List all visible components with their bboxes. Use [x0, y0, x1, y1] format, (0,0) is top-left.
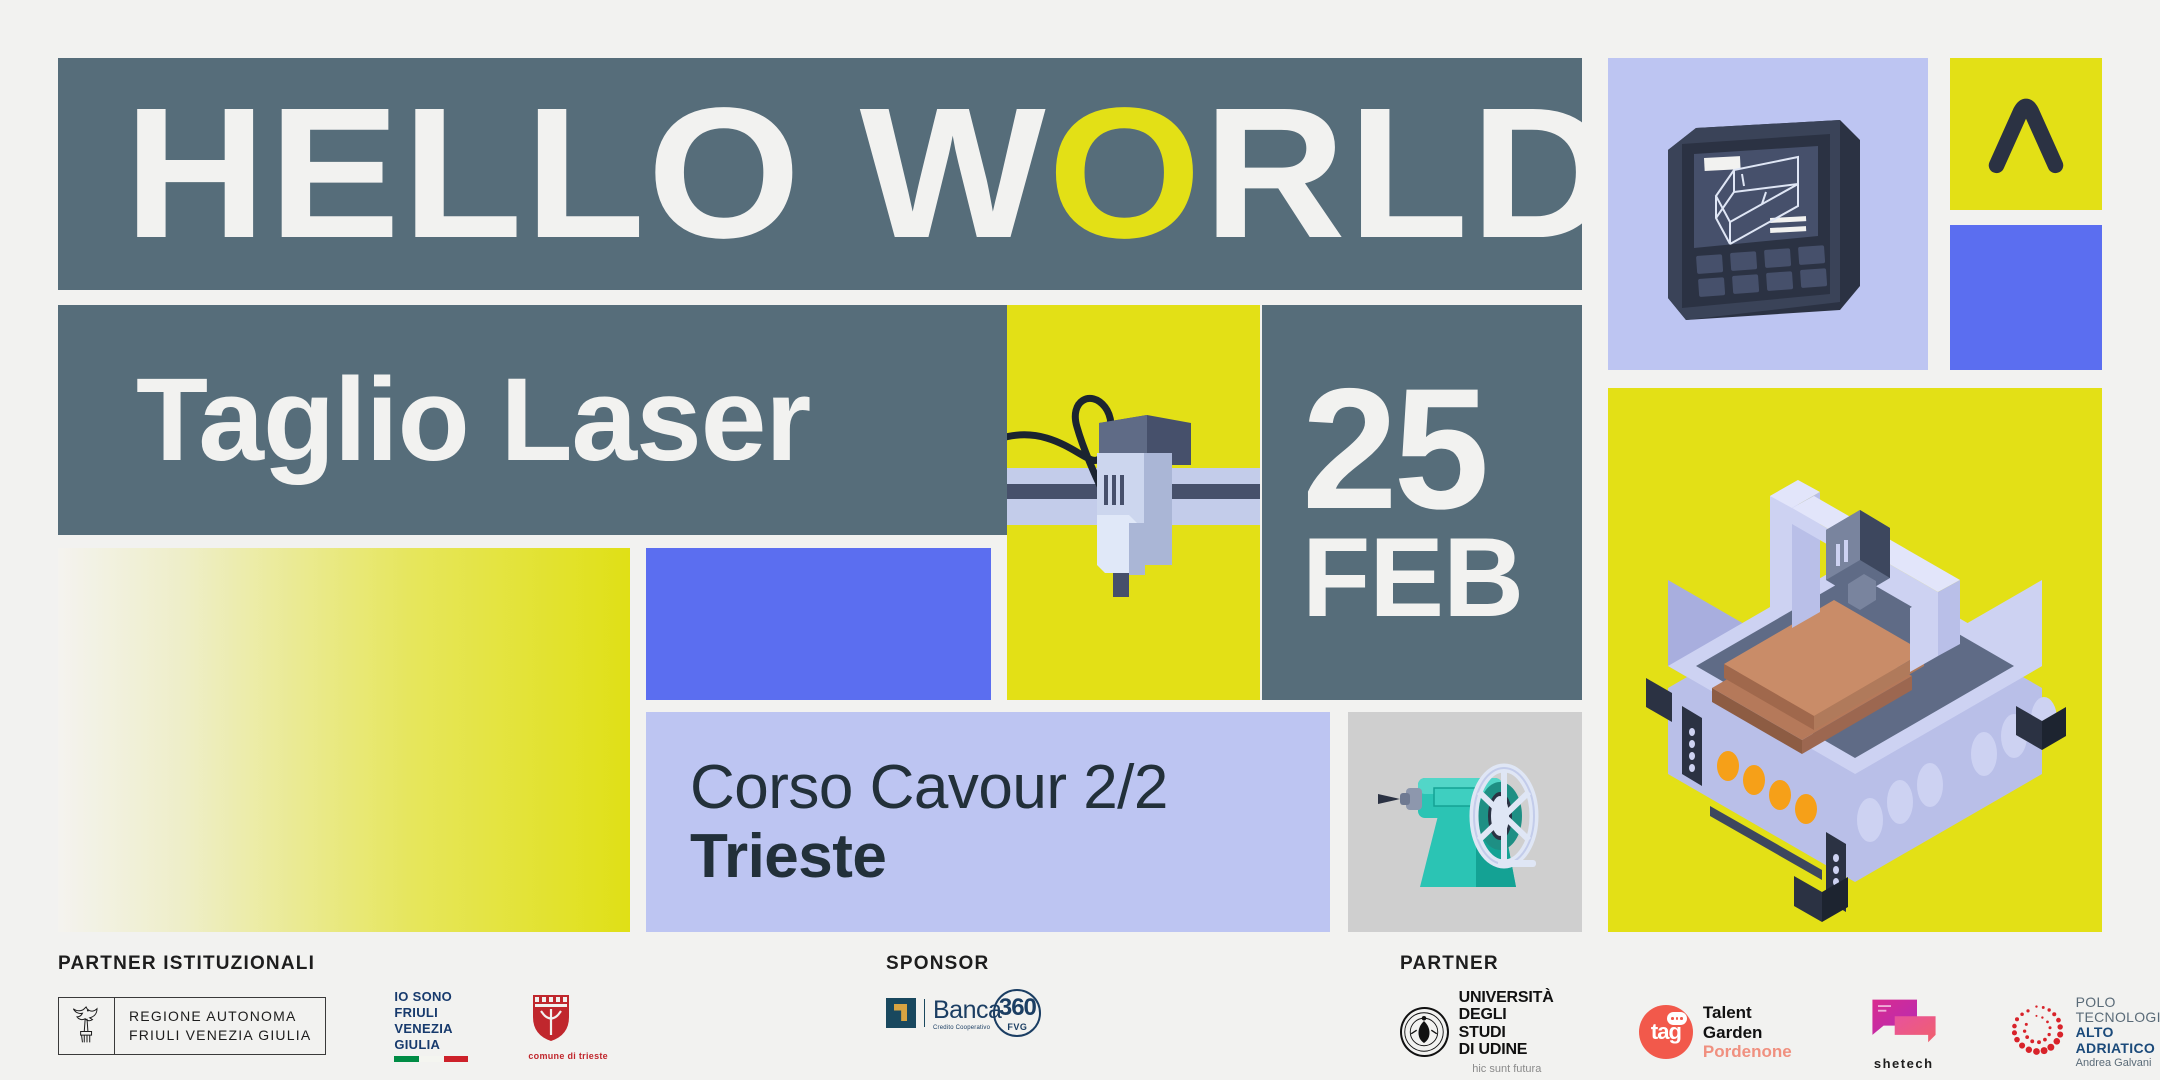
workshop-title: Taglio Laser — [136, 352, 810, 488]
iosono-line-2: FRIULI — [394, 1005, 468, 1021]
laser-cutting-head-icon — [1007, 305, 1260, 700]
iosono-line-3: VENEZIA — [394, 1021, 468, 1037]
title-part-suffix: RLD — [1203, 70, 1615, 277]
event-day: 25 — [1302, 374, 1582, 525]
tag-line-2: Garden — [1703, 1023, 1792, 1042]
tag-mark-icon: tag — [1639, 1005, 1693, 1059]
title-banner: HELLO WORLD — [58, 58, 1582, 290]
footer-logo-row-sponsor: Banca Credito Cooperativo 360 FVG — [886, 989, 1041, 1037]
tag-line-1: Talent — [1703, 1003, 1792, 1022]
polo-line-2: TECNOLOGICO — [2076, 1010, 2160, 1025]
logo-universita-udine[interactable]: UNIVERSITÀ DEGLI STUDI DI UDINE hic sunt… — [1400, 989, 1555, 1075]
banca-360-number: 360 — [999, 994, 1036, 1022]
brand-logo-panel — [1950, 58, 2102, 210]
footer-group-partner: PARTNER UNIVERSITÀ DEGLI — [1400, 953, 2160, 1075]
polo-line-3: ALTO ADRIATICO — [2076, 1025, 2160, 1056]
regione-line-1: REGIONE AUTONOMA — [129, 1007, 311, 1026]
event-poster: HELLO WORLD Taglio Laser — [0, 0, 2160, 1080]
tag-line-3: Pordenone — [1703, 1042, 1792, 1061]
banca-name: Banca — [933, 996, 1001, 1025]
polo-wordmark: POLO TECNOLOGICO ALTO ADRIATICO Andrea G… — [2076, 995, 2160, 1070]
shetech-name: shetech — [1866, 1056, 1942, 1071]
cnc-machine-illustration-panel — [1608, 388, 2102, 932]
logo-regione-autonoma-fvg[interactable]: REGIONE AUTONOMA FRIULI VENEZIA GIULIA — [58, 997, 326, 1055]
footer-group-institutional: PARTNER ISTITUZIONALI REGIONE AUTONOMA F — [58, 953, 608, 1062]
uniud-motto: hic sunt futura — [1459, 1063, 1555, 1075]
banca-360-circle: 360 FVG — [993, 989, 1041, 1037]
footer: PARTNER ISTITUZIONALI REGIONE AUTONOMA F — [0, 945, 2160, 1080]
tag-wordmark: Talent Garden Pordenone — [1703, 1003, 1792, 1060]
footer-heading-partner: PARTNER — [1400, 953, 2160, 975]
page-title: HELLO WORLD — [124, 81, 1615, 267]
iosono-line-4: GIULIA — [394, 1037, 468, 1053]
gradient-decoration-block — [58, 548, 630, 932]
event-date-panel: 25 FEB — [1262, 305, 1582, 700]
event-location-panel: Corso Cavour 2/2 Trieste — [646, 712, 1330, 932]
uniud-line-3: DI UDINE — [1459, 1041, 1555, 1058]
university-seal-icon — [1400, 1007, 1449, 1057]
uniud-wordmark: UNIVERSITÀ DEGLI STUDI DI UDINE hic sunt… — [1459, 989, 1555, 1075]
event-city: Trieste — [690, 822, 1330, 891]
speech-bubble-icon — [1667, 1012, 1687, 1025]
subtitle-bar: Taglio Laser — [58, 305, 1008, 535]
logo-talent-garden[interactable]: tag Talent Garden Pordenone — [1639, 1003, 1792, 1060]
polo-line-4: Andrea Galvani — [2076, 1057, 2160, 1069]
banca-divider — [924, 999, 925, 1027]
event-month: FEB — [1302, 525, 1582, 631]
laser-head-illustration-panel — [1007, 305, 1260, 700]
speech-bubbles-icon — [1866, 994, 1942, 1046]
logo-regione-text: REGIONE AUTONOMA FRIULI VENEZIA GIULIA — [115, 1007, 325, 1045]
trieste-label: comune di trieste — [528, 1051, 608, 1061]
blue-decoration-block — [646, 548, 991, 700]
italian-flag-icon — [394, 1056, 468, 1062]
title-part-prefix: HELL — [124, 70, 647, 277]
title-part-o2-accent: O — [1048, 70, 1203, 277]
uniud-line-1: UNIVERSITÀ — [1459, 989, 1555, 1006]
chevron-up-logo-icon — [1980, 88, 2072, 180]
footer-heading-institutional: PARTNER ISTITUZIONALI — [58, 953, 608, 975]
controller-illustration-panel — [1608, 58, 1928, 370]
blue-decoration-block-top-right — [1950, 225, 2102, 370]
cnc-laser-cutter-icon — [1608, 388, 2102, 932]
grinder-illustration-panel — [1348, 712, 1582, 932]
bench-grinder-icon — [1348, 712, 1582, 932]
banca-region: FVG — [999, 1022, 1036, 1032]
iosono-line-1: IO SONO — [394, 989, 468, 1005]
logo-io-sono-fvg[interactable]: IO SONO FRIULI VENEZIA GIULIA — [394, 989, 468, 1062]
logo-comune-di-trieste[interactable]: comune di trieste — [528, 991, 608, 1061]
banca-wordmark: Banca Credito Cooperativo — [933, 996, 1001, 1031]
footer-logo-row-partner: UNIVERSITÀ DEGLI STUDI DI UDINE hic sunt… — [1400, 989, 2160, 1075]
title-part-mid: W — [803, 70, 1048, 277]
banca-mark-icon — [886, 998, 916, 1028]
regione-line-2: FRIULI VENEZIA GIULIA — [129, 1026, 311, 1045]
cnc-controller-panel-icon — [1608, 58, 1928, 370]
banca-subtitle: Credito Cooperativo — [933, 1025, 1001, 1031]
uniud-line-2: DEGLI STUDI — [1459, 1006, 1555, 1041]
logo-shetech[interactable]: shetech — [1866, 994, 1942, 1071]
halberd-shield-icon — [528, 991, 574, 1043]
footer-group-sponsor: SPONSOR Banca Credito Cooperativo 360 FV… — [886, 953, 1041, 1037]
eagle-icon — [59, 998, 115, 1054]
logo-banca-360-fvg[interactable]: Banca Credito Cooperativo 360 FVG — [886, 989, 1041, 1037]
dotted-spiral-icon — [2006, 999, 2067, 1065]
event-street: Corso Cavour 2/2 — [690, 753, 1330, 822]
title-part-o1: O — [647, 70, 802, 277]
polo-line-1: POLO — [2076, 995, 2160, 1010]
footer-logo-row-institutional: REGIONE AUTONOMA FRIULI VENEZIA GIULIA I… — [58, 989, 608, 1062]
logo-polo-tecnologico[interactable]: POLO TECNOLOGICO ALTO ADRIATICO Andrea G… — [2006, 995, 2160, 1070]
footer-heading-sponsor: SPONSOR — [886, 953, 1041, 975]
